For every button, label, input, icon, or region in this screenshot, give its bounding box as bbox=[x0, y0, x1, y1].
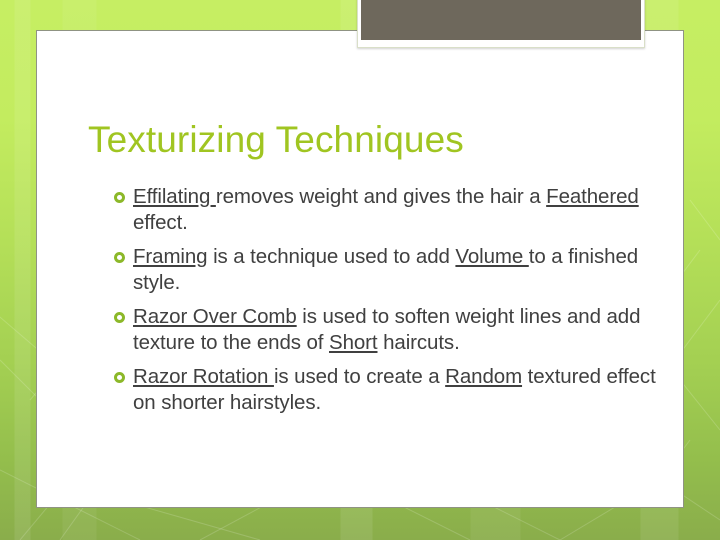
emphasized-term: Framing bbox=[133, 245, 207, 268]
decorative-image-placeholder bbox=[361, 0, 641, 40]
bullet-effilating: Effilating removes weight and gives the … bbox=[114, 184, 662, 235]
body-text: effect. bbox=[133, 211, 188, 234]
emphasized-term: Random bbox=[445, 365, 522, 388]
emphasized-term: Feathered bbox=[546, 185, 639, 208]
emphasized-term: Short bbox=[329, 331, 378, 354]
bullet-framing: Framing is a technique used to add Volum… bbox=[114, 244, 662, 295]
slide-title: Texturizing Techniques bbox=[88, 118, 628, 162]
body-text: haircuts. bbox=[378, 331, 460, 354]
bullet-razor-rotation: Razor Rotation is used to create a Rando… bbox=[114, 364, 662, 415]
bullet-list: Effilating removes weight and gives the … bbox=[114, 184, 662, 424]
bullet-text: Effilating removes weight and gives the … bbox=[133, 184, 662, 235]
body-text: is used to create a bbox=[274, 365, 445, 388]
emphasized-term: Razor Rotation bbox=[133, 365, 274, 388]
bullet-ring-icon bbox=[114, 192, 125, 203]
emphasized-term: Volume bbox=[455, 245, 528, 268]
bullet-ring-icon bbox=[114, 372, 125, 383]
slide: Texturizing Techniques Effilating remove… bbox=[0, 0, 720, 540]
bullet-razor-over-comb: Razor Over Comb is used to soften weight… bbox=[114, 304, 662, 355]
bullet-text: Razor Over Comb is used to soften weight… bbox=[133, 304, 662, 355]
bullet-text: Framing is a technique used to add Volum… bbox=[133, 244, 662, 295]
body-text: is a technique used to add bbox=[207, 245, 455, 268]
body-text: removes weight and gives the hair a bbox=[216, 185, 546, 208]
bullet-ring-icon bbox=[114, 312, 125, 323]
bullet-text: Razor Rotation is used to create a Rando… bbox=[133, 364, 662, 415]
bullet-ring-icon bbox=[114, 252, 125, 263]
emphasized-term: Razor Over Comb bbox=[133, 305, 297, 328]
emphasized-term: Effilating bbox=[133, 185, 216, 208]
